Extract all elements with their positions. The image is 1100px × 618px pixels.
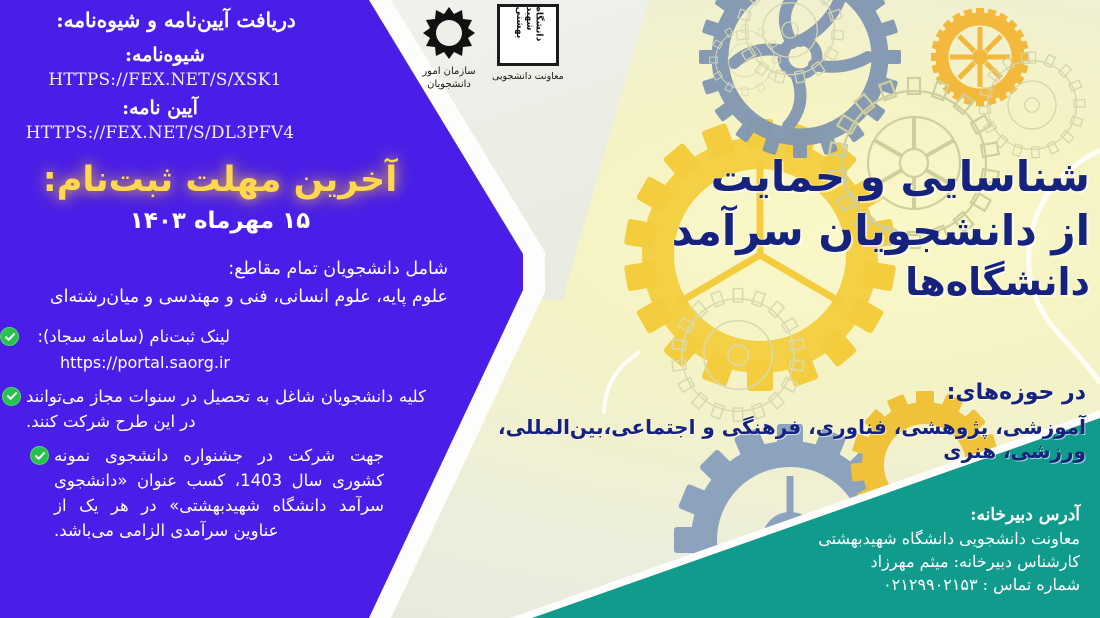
- shahid-beheshti-university-logo: دانشگاه شهید بهشتی: [497, 4, 559, 66]
- secretariat-block: آدرس دبیرخانه: معاونت دانشجویی دانشگاه ش…: [660, 505, 1080, 597]
- gear-blue-swirl: [699, 0, 901, 158]
- check-circle-icon: [2, 387, 21, 406]
- logo-saorg-caption-l1: سازمان امور: [422, 66, 475, 77]
- check-circle-icon: [30, 446, 49, 465]
- secretariat-line-1: معاونت دانشجویی دانشگاه شهیدبهشتی: [660, 527, 1080, 550]
- deadline-date: ۱۵ مهرماه ۱۴۰۳: [0, 208, 440, 234]
- list-item: جهت شرکت در جشنواره دانشجوی نمونه کشوری …: [0, 444, 448, 543]
- bullet-1-body: لینک ثبت‌نام (سامانه سجاد): https://port…: [24, 325, 230, 375]
- download-label-ayinname: آیین نامه:: [0, 97, 320, 119]
- logo-sbu-caption: معاونت دانشجویی: [492, 71, 564, 82]
- logo-saorg-caption: سازمان امور دانشجویان: [422, 66, 475, 91]
- gear-orange-small: [931, 8, 1029, 106]
- logo-row: سازمان امور دانشجویان دانشگاه شهید بهشتی…: [420, 4, 660, 112]
- logo-saorg: سازمان امور دانشجویان: [420, 4, 478, 91]
- logo-sbu-mark-text: دانشگاه شهید بهشتی: [513, 6, 542, 63]
- download-url-shivename[interactable]: HTTPS://FEX.NET/S/XSK1: [0, 70, 330, 90]
- title-line-2: از دانشجویان سرآمد: [672, 206, 1090, 255]
- deadline-label: آخرین مهلت ثبت‌نام:: [0, 160, 440, 200]
- student-affairs-organization-logo: [420, 4, 478, 62]
- bullet-2-body: کلیه دانشجویان شاغل به تحصیل در سنوات مج…: [26, 385, 426, 435]
- poster-canvas: سازمان امور دانشجویان دانشگاه شهید بهشتی…: [0, 0, 1100, 618]
- check-circle-icon: [0, 327, 19, 346]
- logo-sbu: دانشگاه شهید بهشتی معاونت دانشجویی: [492, 4, 564, 82]
- bullet-list: لینک ثبت‌نام (سامانه سجاد): https://port…: [0, 325, 448, 553]
- secretariat-phone: شماره تماس : ۰۲۱۲۹۹۰۲۱۵۳: [660, 573, 1080, 596]
- gear-outline-tiny-a: [710, 25, 781, 96]
- eligibility-line-2: علوم پایه، علوم انسانی، فنی و مهندسی و م…: [0, 283, 448, 311]
- list-item: کلیه دانشجویان شاغل به تحصیل در سنوات مج…: [0, 385, 448, 435]
- title-line-1: شناسایی و حمایت: [711, 152, 1090, 201]
- gear-outline-topleft: [737, 0, 844, 83]
- downloads-header: دریافت آیین‌نامه و شیوه‌نامه:: [0, 8, 352, 32]
- fields-list: آموزشی، پژوهشی، فناوری، فرهنگی و اجتماعی…: [466, 415, 1086, 463]
- registration-link[interactable]: https://portal.saorg.ir: [24, 351, 230, 375]
- eligibility-line-1: شامل دانشجویان تمام مقاطع:: [0, 255, 448, 283]
- bullet-3-body: جهت شرکت در جشنواره دانشجوی نمونه کشوری …: [54, 444, 384, 543]
- bullet-1-text: لینک ثبت‌نام (سامانه سجاد):: [37, 327, 230, 346]
- gear-outline-right: [979, 52, 1085, 158]
- page-title: شناسایی و حمایت از دانشجویان سرآمد دانشگ…: [570, 150, 1090, 306]
- secretariat-line-2: کارشناس دبیرخانه: میثم مهرزاد: [660, 550, 1080, 573]
- fields-label: در حوزه‌های:: [566, 380, 1086, 405]
- list-item: لینک ثبت‌نام (سامانه سجاد): https://port…: [0, 325, 448, 375]
- download-label-shivename: شیوه‌نامه:: [0, 44, 330, 66]
- secretariat-title: آدرس دبیرخانه:: [660, 505, 1080, 525]
- title-line-3: دانشگاه‌ها: [570, 258, 1090, 307]
- download-url-ayinname[interactable]: HTTPS://FEX.NET/S/DL3PFV4: [0, 123, 320, 143]
- logo-saorg-caption-l2: دانشجویان: [427, 79, 471, 90]
- eligibility-block: شامل دانشجویان تمام مقاطع: علوم پایه، عل…: [0, 255, 448, 312]
